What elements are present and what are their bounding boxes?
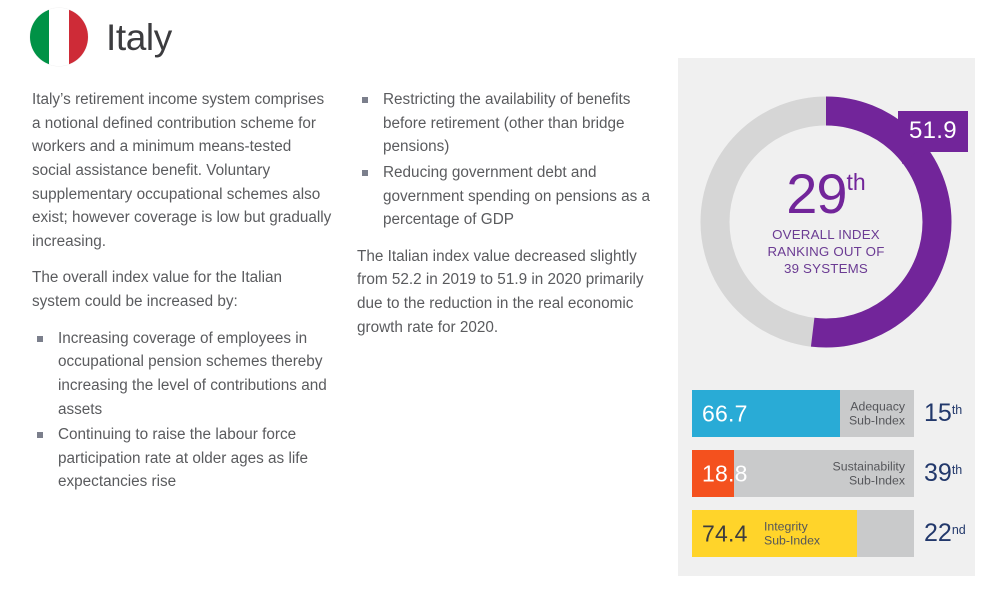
intro-paragraph: Italy’s retirement income system compris… — [32, 88, 332, 253]
bullet-square-icon — [362, 170, 368, 176]
bar-rank-number: 22 — [924, 521, 952, 546]
bar-label-integrity: Integrity Sub-Index — [764, 519, 820, 549]
sub-index-row-adequacy: 66.7 Adequacy Sub-Index 15th — [692, 390, 960, 437]
flag-stripe-green — [30, 8, 49, 66]
bar-label-sustainability: Sustainability Sub-Index — [833, 459, 905, 489]
bullet-square-icon — [37, 336, 43, 342]
flag-stripe-white — [49, 8, 68, 66]
bar-rank-sustainability: 39th — [924, 461, 962, 486]
list-item: Reducing government debt and government … — [357, 161, 657, 232]
bullet-square-icon — [362, 97, 368, 103]
list-item-text: Continuing to raise the labour force par… — [58, 426, 308, 490]
bullet-square-icon — [37, 432, 43, 438]
sub-index-row-integrity: 74.4 Integrity Sub-Index 22nd — [692, 510, 960, 557]
improvements-list-right: Restricting the availability of benefits… — [357, 88, 657, 232]
list-item: Continuing to raise the labour force par… — [32, 423, 332, 494]
bar-rank-suffix: th — [952, 404, 962, 417]
overall-index-donut-chart: 29th OVERALL INDEX RANKING OUT OF 39 SYS… — [690, 86, 962, 358]
index-summary-panel: 29th OVERALL INDEX RANKING OUT OF 39 SYS… — [678, 58, 975, 576]
bar-rank-integrity: 22nd — [924, 521, 966, 546]
list-item-text: Restricting the availability of benefits… — [383, 91, 630, 155]
bar-label-line-2: Sub-Index — [849, 414, 905, 429]
callout-tail-icon — [902, 151, 918, 164]
bar-label-line-2: Sub-Index — [764, 534, 820, 549]
list-item: Increasing coverage of employees in occu… — [32, 327, 332, 422]
bar-rank-number: 39 — [924, 461, 952, 486]
bar-rank-number: 15 — [924, 401, 952, 426]
flag-stripe-red — [69, 8, 88, 66]
sub-index-bar-list: 66.7 Adequacy Sub-Index 15th 18.8 Sustai… — [692, 390, 960, 570]
italy-flag-icon — [30, 8, 88, 66]
bar-rank-suffix: nd — [952, 524, 966, 537]
bar-label-line-1: Sustainability — [833, 459, 905, 474]
bar-label-line-1: Adequacy — [849, 399, 905, 414]
bar-value-integrity: 74.4 — [702, 522, 748, 545]
sub-index-row-sustainability: 18.8 Sustainability Sub-Index 39th — [692, 450, 960, 497]
improvements-list-left: Increasing coverage of employees in occu… — [32, 327, 332, 494]
bar-value-sustainability: 18.8 — [702, 462, 748, 485]
page-title: Italy — [106, 19, 172, 56]
bar-label-line-1: Integrity — [764, 519, 820, 534]
bar-label-adequacy: Adequacy Sub-Index — [849, 399, 905, 429]
bar-label-line-2: Sub-Index — [833, 474, 905, 489]
bar-track: 18.8 Sustainability Sub-Index — [692, 450, 914, 497]
bar-value-adequacy: 66.7 — [702, 402, 748, 425]
bar-track: 66.7 Adequacy Sub-Index — [692, 390, 914, 437]
list-item-text: Increasing coverage of employees in occu… — [58, 330, 327, 418]
overall-index-value-callout: 51.9 — [898, 111, 968, 152]
bar-track: 74.4 Integrity Sub-Index — [692, 510, 914, 557]
list-item: Restricting the availability of benefits… — [357, 88, 657, 159]
improvements-lead-in: The overall index value for the Italian … — [32, 266, 332, 313]
text-column-right: Restricting the availability of benefits… — [357, 88, 657, 352]
bar-rank-suffix: th — [952, 464, 962, 477]
list-item-text: Reducing government debt and government … — [383, 164, 650, 228]
country-header: Italy — [30, 8, 172, 66]
text-column-left: Italy’s retirement income system compris… — [32, 88, 332, 507]
closing-paragraph: The Italian index value decreased slight… — [357, 245, 657, 340]
bar-rank-adequacy: 15th — [924, 401, 962, 426]
